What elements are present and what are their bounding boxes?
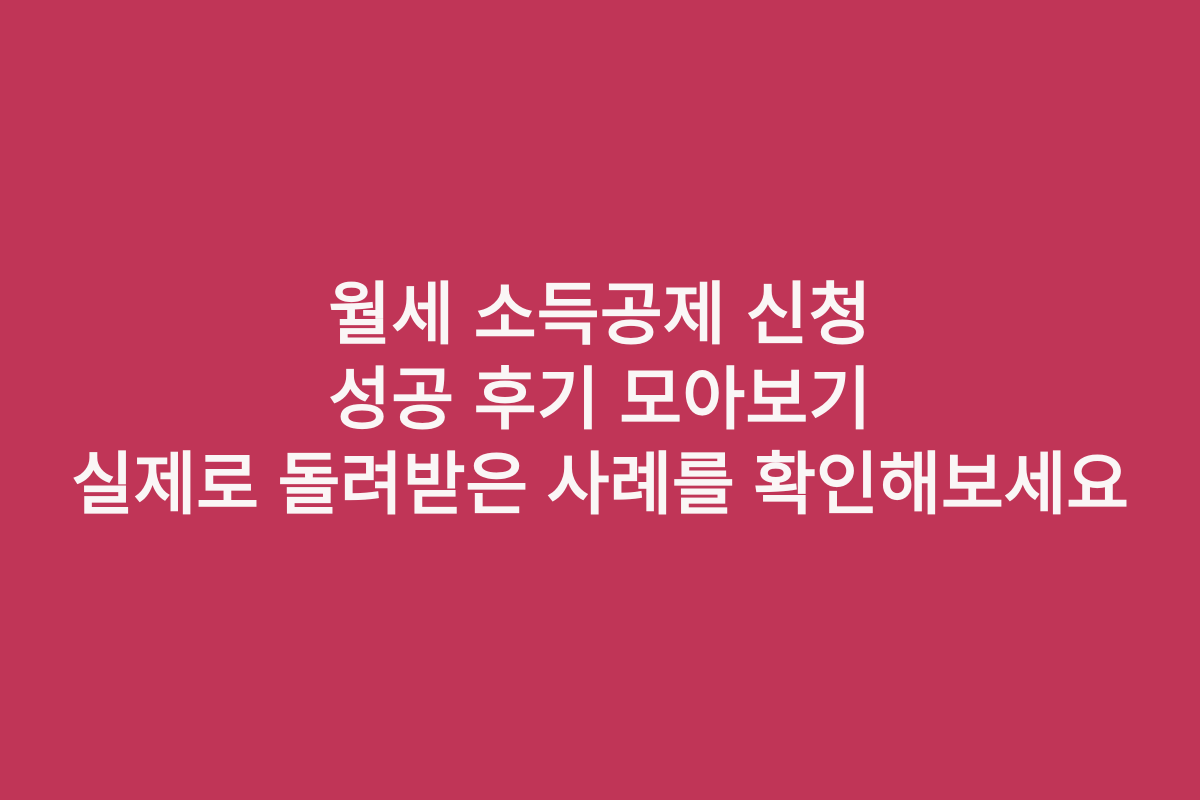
headline-line-3: 실제로 돌려받은 사례를 확인해보세요 [8, 443, 1192, 528]
headline-text-block: 월세 소득공제 신청 성공 후기 모아보기 실제로 돌려받은 사례를 확인해보세… [0, 273, 1200, 528]
headline-line-2: 성공 후기 모아보기 [8, 358, 1192, 443]
promo-banner: 월세 소득공제 신청 성공 후기 모아보기 실제로 돌려받은 사례를 확인해보세… [0, 0, 1200, 800]
headline-line-1: 월세 소득공제 신청 [8, 273, 1192, 358]
